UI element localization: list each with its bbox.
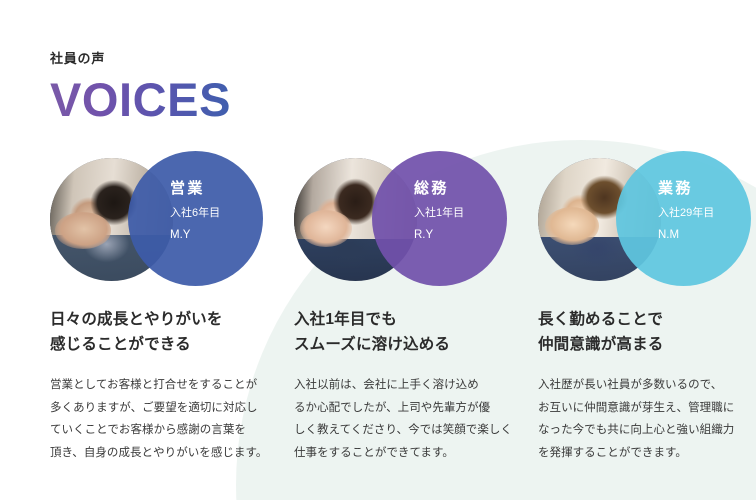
body-line: るか心配でしたが、上司や先輩方が優	[294, 397, 513, 420]
headline-line: 入社1年目でも	[294, 307, 513, 332]
department-label: 業務	[658, 181, 714, 196]
body-line: しく教えてくださり、今では笑顔で楽しく	[294, 419, 513, 442]
body-line: 入社歴が長い社員が多数いるので、	[538, 374, 756, 397]
voice-card[interactable]: 総務 入社1年目 R.Y 入社1年目でも スムーズに溶け込める 入社以前は、会社…	[294, 151, 513, 464]
card-body: 営業としてお客様と打合せをすることが 多くありますが、ご要望を適切に対応し てい…	[50, 374, 269, 464]
headline-line: 仲間意識が高まる	[538, 332, 756, 357]
initials-label: R.Y	[414, 230, 464, 242]
employee-meta: 業務 入社29年目 N.M	[658, 181, 714, 242]
venn-graphic: 総務 入社1年目 R.Y	[294, 151, 513, 286]
headline-line: スムーズに溶け込める	[294, 332, 513, 357]
card-headline: 長く勤めることで 仲間意識が高まる	[538, 307, 756, 357]
body-line: 入社以前は、会社に上手く溶け込め	[294, 374, 513, 397]
venn-graphic: 営業 入社6年目 M.Y	[50, 151, 269, 286]
page-title: VOICES	[50, 76, 231, 123]
headline-line: 日々の成長とやりがいを	[50, 307, 269, 332]
employee-meta: 営業 入社6年目 M.Y	[170, 181, 220, 242]
initials-label: M.Y	[170, 230, 220, 242]
card-headline: 日々の成長とやりがいを 感じることができる	[50, 307, 269, 357]
voice-card[interactable]: 業務 入社29年目 N.M 長く勤めることで 仲間意識が高まる 入社歴が長い社員…	[538, 151, 756, 464]
tenure-label: 入社29年目	[658, 208, 714, 219]
department-label: 営業	[170, 181, 220, 196]
voice-card-list: 営業 入社6年目 M.Y 日々の成長とやりがいを 感じることができる 営業として…	[50, 151, 708, 464]
body-line: 多くありますが、ご要望を適切に対応し	[50, 397, 269, 420]
card-headline: 入社1年目でも スムーズに溶け込める	[294, 307, 513, 357]
card-body: 入社以前は、会社に上手く溶け込め るか心配でしたが、上司や先輩方が優 しく教えて…	[294, 374, 513, 464]
voice-card[interactable]: 営業 入社6年目 M.Y 日々の成長とやりがいを 感じることができる 営業として…	[50, 151, 269, 464]
voices-page: 社員の声 VOICES 営業 入社6年目 M.Y 日々の成長とやりがいを 感じる…	[0, 0, 756, 500]
page-header: 社員の声 VOICES	[50, 52, 708, 123]
body-line: 頂き、自身の成長とやりがいを感じます。	[50, 442, 269, 465]
venn-graphic: 業務 入社29年目 N.M	[538, 151, 756, 286]
body-line: 営業としてお客様と打合せをすることが	[50, 374, 269, 397]
headline-line: 長く勤めることで	[538, 307, 756, 332]
eyebrow-label: 社員の声	[50, 52, 708, 65]
body-line: ていくことでお客様から感謝の言葉を	[50, 419, 269, 442]
body-line: 仕事をすることができてます。	[294, 442, 513, 465]
body-line: お互いに仲間意識が芽生え、管理職に	[538, 397, 756, 420]
tenure-label: 入社6年目	[170, 208, 220, 219]
headline-line: 感じることができる	[50, 332, 269, 357]
card-body: 入社歴が長い社員が多数いるので、 お互いに仲間意識が芽生え、管理職に なった今で…	[538, 374, 756, 464]
tenure-label: 入社1年目	[414, 208, 464, 219]
employee-meta: 総務 入社1年目 R.Y	[414, 181, 464, 242]
body-line: を発揮することができます。	[538, 442, 756, 465]
department-label: 総務	[414, 181, 464, 196]
body-line: なった今でも共に向上心と強い組織力	[538, 419, 756, 442]
initials-label: N.M	[658, 230, 714, 242]
